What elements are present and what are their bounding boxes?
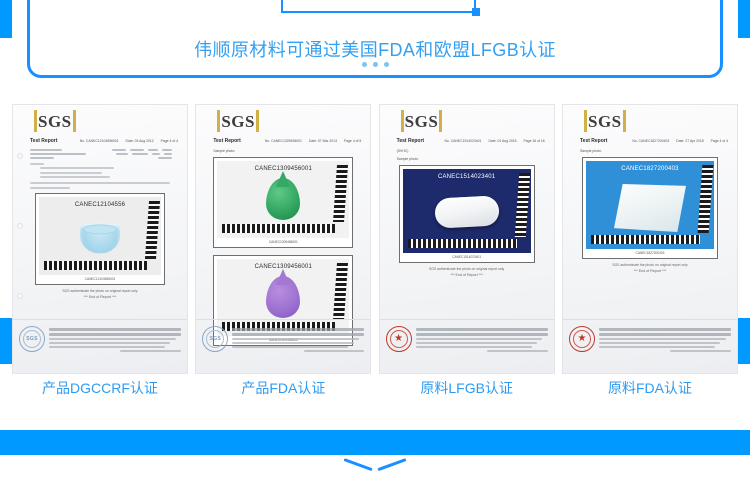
report-meta: No. CANEC1514023401 Date: 01 Aug 2015 Pa… [444,138,544,143]
footer-text-lines [49,326,181,354]
sgs-seal-stamp: SGS [202,326,228,352]
ruler-horizontal [408,239,517,248]
page-root: 检测与资质 伟顺原材料可通过美国FDA和欧盟LFGB认证 SGS Test Re… [0,0,750,479]
report-page: Page 4 of 4 [161,139,178,143]
sample-photo-caption: CANEC12104556001 [39,275,161,281]
sample-photo-caption: CANEC1514023401 [403,253,531,259]
report-title: Test Report [580,138,607,146]
report-page: Page 4 of 4 [711,139,728,143]
sgs-logo: SGS [219,113,257,130]
bottom-accent-bar [0,430,750,455]
sample-photo-code: CANEC1514023401 [403,174,531,180]
report-page: Page 4 of 5 [344,139,361,143]
sgs-logo-row: SGS [22,113,178,132]
subtitle-dots [0,62,750,67]
sample-photo-code: CANEC12104556 [39,202,161,208]
star-icon: ★ [394,334,403,344]
sgs-logo-row: SGS [572,113,728,132]
dot-1 [362,62,367,67]
report-header: Test Report No. CANEC1827200403 Date: 27… [572,138,728,146]
report-header: Test Report No. CANEC1514023401 Date: 01… [389,138,545,146]
certificate-grid: SGS Test Report No. CANEC12104556001 Dat… [12,104,738,374]
sample-photo-frame: CANEC1309456001 CANEC1309456001 [213,157,353,248]
footer-text-lines [416,326,548,354]
notes-block [22,163,178,189]
report-title: Test Report [397,138,424,146]
certificate-card[interactable]: SGS Test Report No. CANEC1827200403 Date… [562,104,738,374]
certificate-paper: SGS Test Report No. CANEC1309456001 Date… [195,104,371,374]
report-title: Test Report [213,138,240,146]
ruler-vertical [514,173,529,237]
ruler-vertical [145,201,160,259]
authentication-note: SGS authenticate the photo on original r… [389,267,545,271]
accent-block-top-right [738,0,750,38]
table-row [30,153,172,155]
page-subtitle: 伟顺原材料可通过美国FDA和欧盟LFGB认证 [0,36,750,62]
sgs-logo: SGS [403,113,441,130]
table-row [30,157,172,159]
report-subtitle: (SVHC) [389,149,545,153]
sgs-logo-row: SGS [389,113,545,132]
punch-hole [17,223,23,229]
caption-dgccrf: 产品DGCCRF认证 [12,378,188,398]
red-seal-stamp: ★ [569,326,595,352]
caption-material-lfgb: 原料LFGB认证 [379,378,555,398]
end-of-report-note: *** End of Report *** [572,269,728,273]
sample-photo-code: CANEC1827200403 [586,166,714,172]
punch-hole [17,153,23,159]
report-no: No. CANEC1827200403 [632,139,669,143]
sample-photo: CANEC1827200403 [586,161,714,249]
caption-product-fda: 产品FDA认证 [195,378,371,398]
report-date: Date: 01 Aug 2015 [488,139,516,143]
certificate-card[interactable]: SGS Test Report No. CANEC12104556001 Dat… [12,104,188,374]
sgs-logo: SGS [586,113,624,130]
ruler-horizontal [44,261,147,270]
report-header: Test Report No. CANEC1309456001 Date: 07… [205,138,361,146]
authentication-note: SGS authenticate the photo on original r… [22,289,178,293]
scroll-down-chevron-icon[interactable] [344,458,406,476]
stamp-label: SGS [210,336,221,342]
certificate-card[interactable]: SGS Test Report No. CANEC1514023401 Date… [379,104,555,374]
sgs-logo: SGS [36,113,74,130]
certificate-paper: SGS Test Report No. CANEC1514023401 Date… [379,104,555,374]
dot-3 [384,62,389,67]
ruler-vertical [333,165,348,222]
report-page: Page 16 of 16 [524,139,545,143]
end-of-report-note: *** End of Report *** [22,295,178,299]
certificate-footer: SGS [13,319,187,373]
report-title: Test Report [30,138,57,146]
red-seal-stamp: ★ [386,326,412,352]
report-date: Date: 03 Aug 2012 [126,139,154,143]
sample-photo-caption: CANEC1827200403 [586,249,714,255]
sample-photo-label: Sample photo: [205,149,361,153]
table-row [30,149,172,151]
certificate-paper: SGS Test Report No. CANEC1827200403 Date… [562,104,738,374]
sample-object-bowl [80,223,120,253]
chevron-left-stroke [343,458,372,471]
certificate-footer: ★ [380,319,554,373]
sample-photo-label: Sample photo: [572,149,728,153]
sample-object-white-sheet [614,184,686,232]
end-of-report-note: *** End of Report *** [389,273,545,277]
footer-text-lines [232,326,364,354]
report-meta: No. CANEC1827200403 Date: 27 Apr 2018 Pa… [632,138,728,143]
ruler-vertical [333,263,348,320]
dot-2 [373,62,378,67]
report-date: Date: 27 Apr 2018 [676,139,703,143]
sample-photo: CANEC1309456001 [217,161,349,238]
sample-photo: CANEC1514023401 [403,169,531,253]
report-no: No. CANEC12104556001 [80,139,119,143]
report-no: No. CANEC1514023401 [444,139,481,143]
ruler-horizontal [591,235,700,244]
sample-photo-frame: CANEC1514023401 CANEC1514023401 [399,165,535,263]
sample-photo-caption: CANEC1309456001 [217,238,349,244]
certificate-footer: ★ [563,319,737,373]
page-title: 检测与资质 [319,0,439,1]
certificate-footer: SGS [196,319,370,373]
sample-object-drop-green [266,178,300,220]
accent-block-bottom-right [738,318,750,364]
sample-photo-label: Sample photo: [389,157,545,161]
report-no: No. CANEC1309456001 [265,139,302,143]
authentication-note: SGS authenticate the photo on original r… [572,263,728,267]
star-icon: ★ [578,334,587,344]
sample-photo-frame: CANEC1827200403 CANEC1827200403 [582,157,718,259]
report-meta: No. CANEC12104556001 Date: 03 Aug 2012 P… [80,138,178,143]
ruler-horizontal [222,224,335,233]
title-corner-marker [472,8,480,16]
certificate-captions: 产品DGCCRF认证 产品FDA认证 原料LFGB认证 原料FDA认证 [12,378,738,398]
result-table [22,149,178,159]
ruler-vertical [698,165,714,233]
accent-block-bottom-left [0,318,12,364]
report-date: Date: 07 Mar 2013 [309,139,337,143]
accent-block-top-left [0,0,12,38]
punch-hole [17,293,23,299]
certificate-paper: SGS Test Report No. CANEC12104556001 Dat… [12,104,188,374]
sample-object-white-pod [434,196,499,229]
sample-photo: CANEC12104556 [39,197,161,275]
report-meta: No. CANEC1309456001 Date: 07 Mar 2013 Pa… [265,138,361,143]
sample-object-drop-purple [266,276,300,318]
chevron-right-stroke [377,458,406,471]
report-header: Test Report No. CANEC12104556001 Date: 0… [22,138,178,146]
caption-material-fda: 原料FDA认证 [562,378,738,398]
section-title-box: 检测与资质 [281,0,476,13]
stamp-label: SGS [26,336,37,342]
certificate-card[interactable]: SGS Test Report No. CANEC1309456001 Date… [195,104,371,374]
sgs-logo-row: SGS [205,113,361,132]
sgs-seal-stamp: SGS [19,326,45,352]
sample-photo-frame: CANEC12104556 CANEC12104556001 [35,193,165,285]
footer-text-lines [599,326,731,354]
